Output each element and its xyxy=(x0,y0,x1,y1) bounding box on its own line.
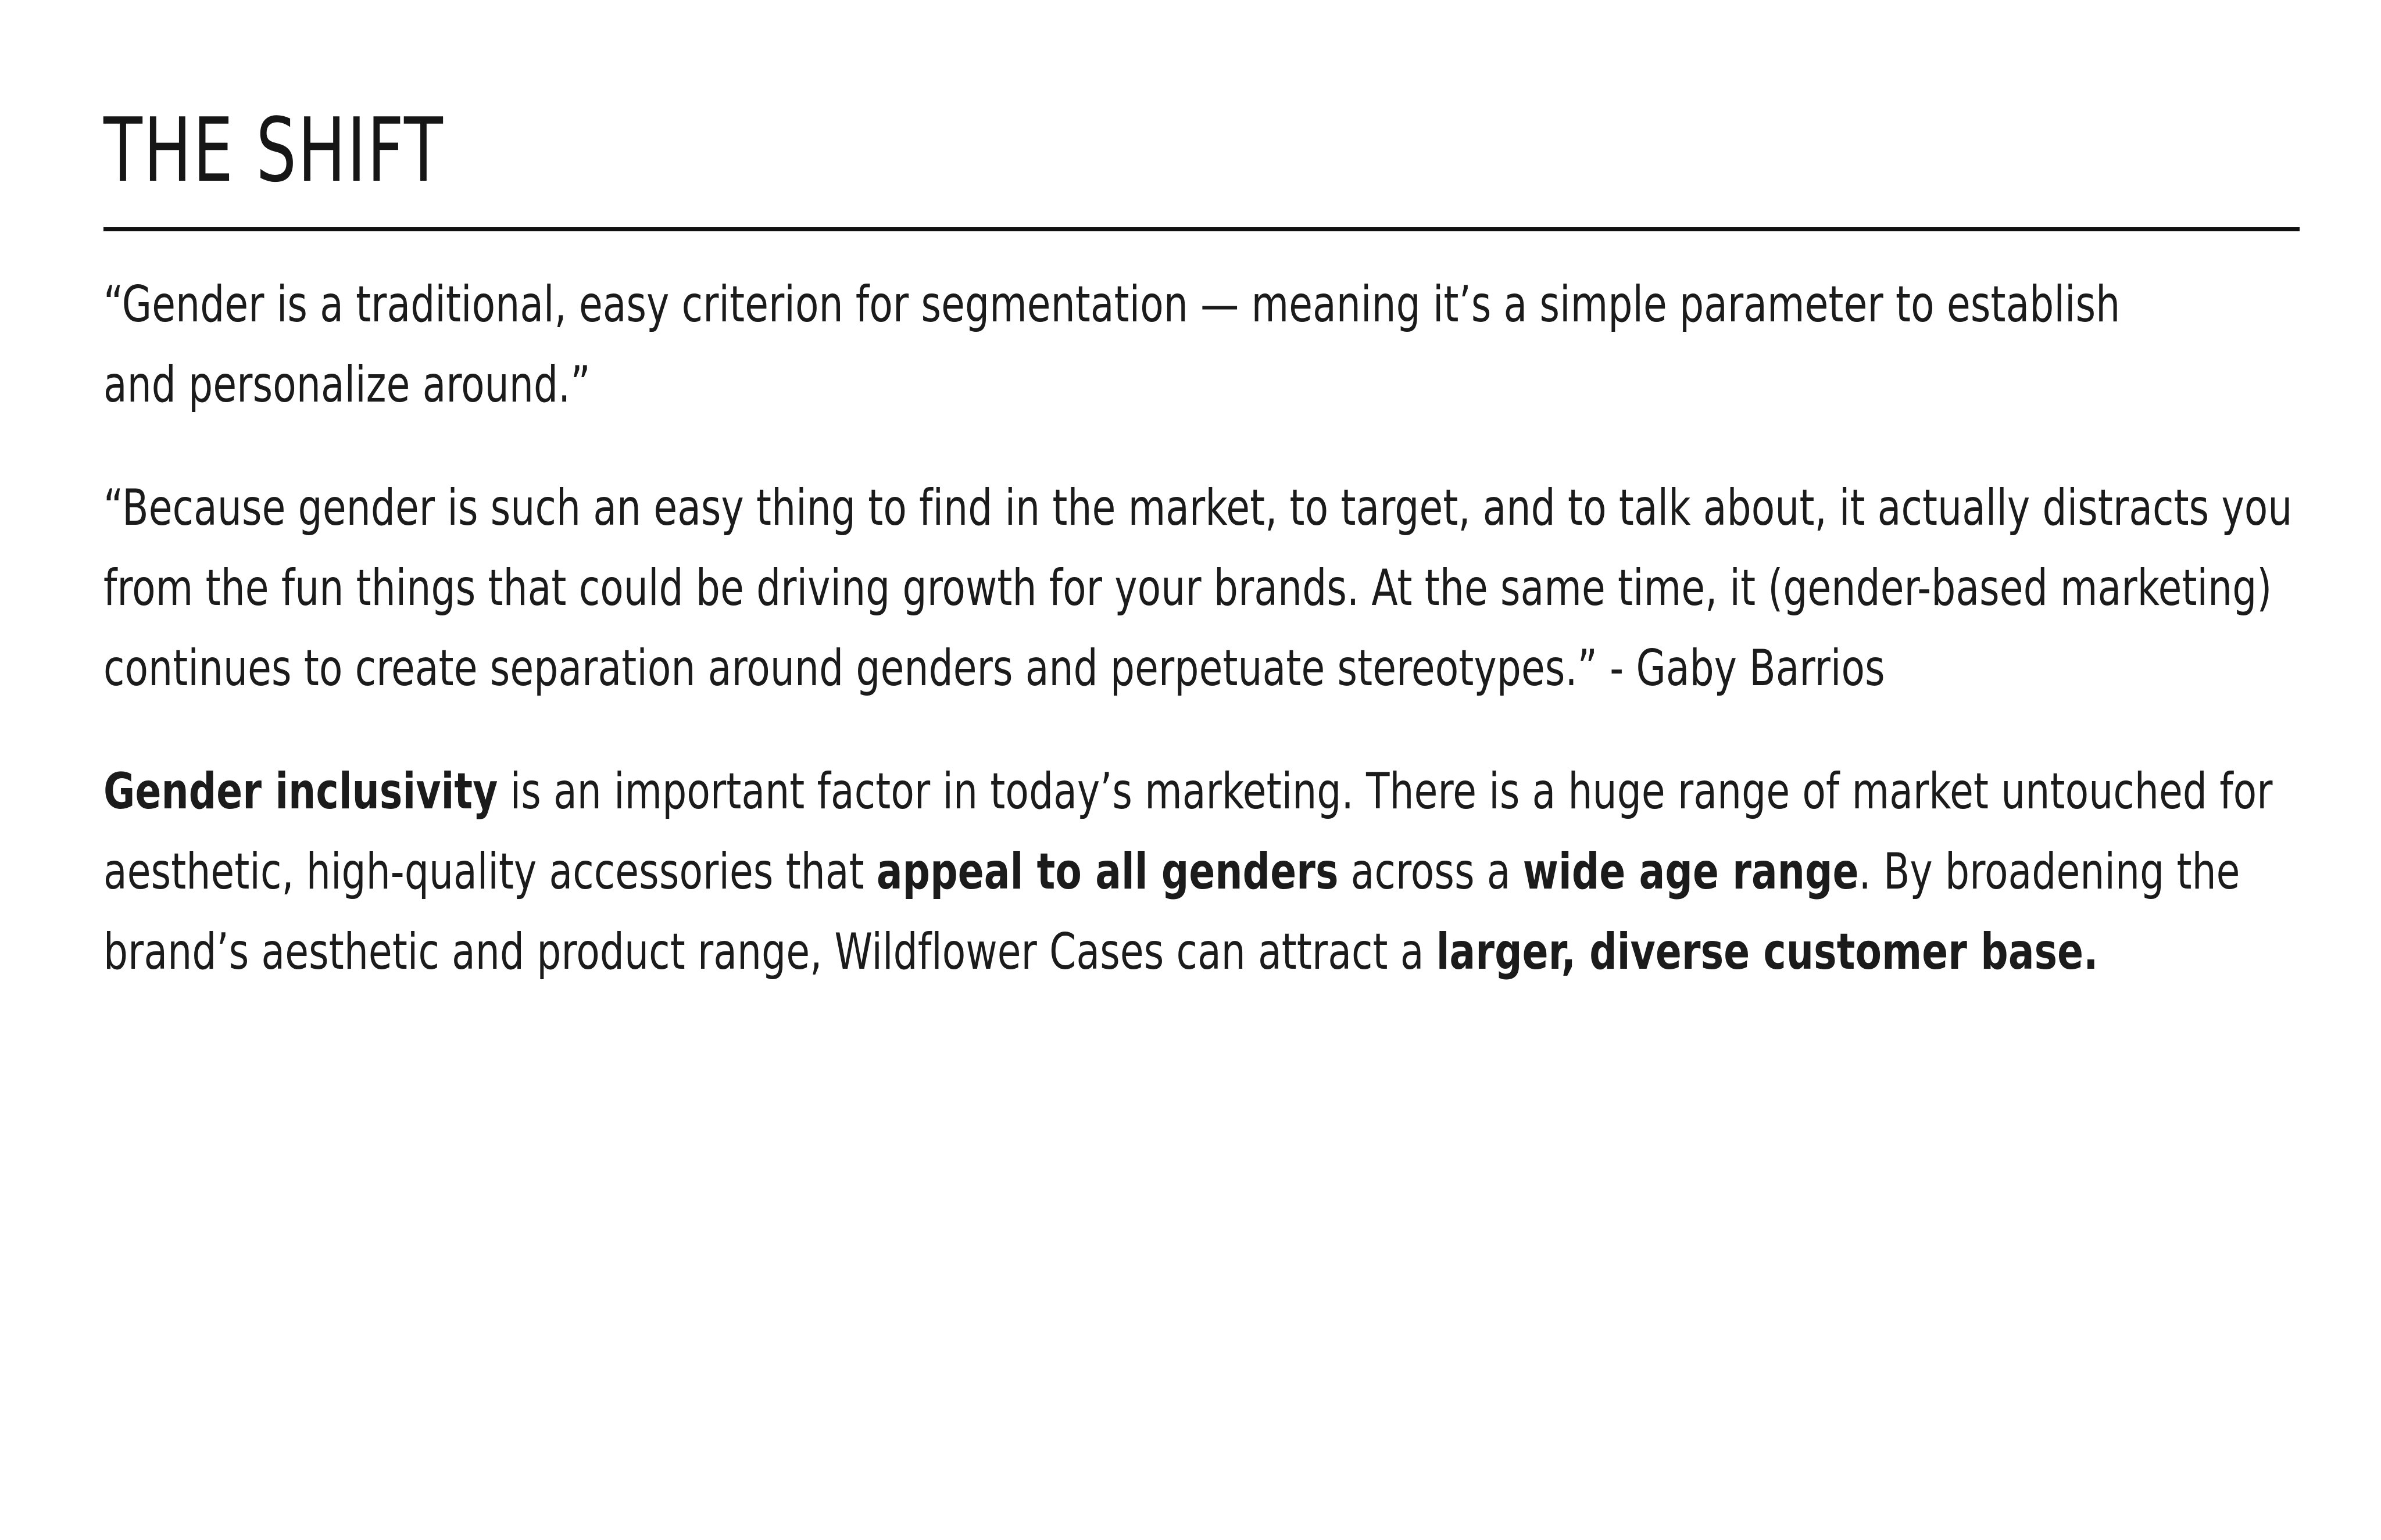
emphasis-run: Gender inclusivity xyxy=(103,762,498,821)
title-block: THE SHIFT xyxy=(103,103,2301,197)
text-run: “Because gender is such an easy thing to… xyxy=(103,479,2293,697)
emphasis-run: appeal to all genders xyxy=(877,843,1339,901)
analysis-paragraph: Gender inclusivity is an important facto… xyxy=(103,751,2305,992)
slide-canvas: THE SHIFT “Gender is a traditional, easy… xyxy=(0,0,2381,1540)
quote-paragraph-1: “Gender is a traditional, easy criterion… xyxy=(103,264,2121,425)
text-run: across a xyxy=(1339,843,1523,901)
quote-paragraph-2: “Because gender is such an easy thing to… xyxy=(103,468,2318,708)
emphasis-run: wide age range xyxy=(1523,843,1859,901)
title-divider xyxy=(103,227,2300,231)
text-run: “Gender is a traditional, easy criterion… xyxy=(103,275,2120,414)
page-title: THE SHIFT xyxy=(103,103,1861,197)
emphasis-run: larger, diverse customer base. xyxy=(1436,923,2098,981)
body-content: “Gender is a traditional, easy criterion… xyxy=(103,264,2312,992)
